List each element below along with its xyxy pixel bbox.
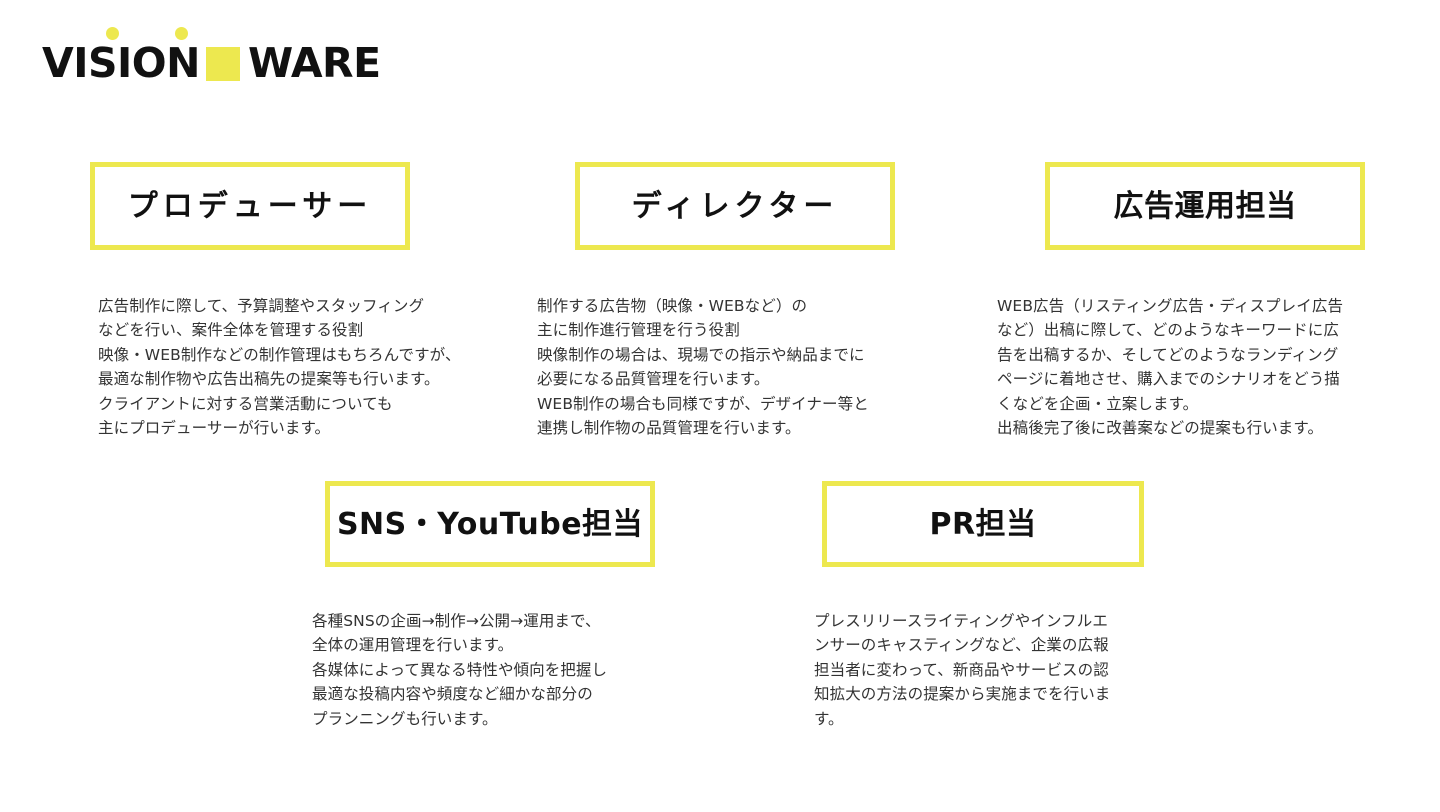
- role-title-box-sns: SNS・YouTube担当: [325, 481, 655, 567]
- logo-dot-over-i-icon: [106, 27, 119, 40]
- role-description-ad-operations: WEB広告（リスティング広告・ディスプレイ広告 など）出稿に際して、どのようなキ…: [997, 294, 1427, 441]
- brand-word-vision: VISION: [42, 43, 200, 84]
- role-title-pr: PR担当: [929, 508, 1036, 541]
- brand-wordmark: VISION WARE: [42, 43, 381, 84]
- role-title-box-pr: PR担当: [822, 481, 1144, 567]
- logo-dot-over-o-icon: [175, 27, 188, 40]
- role-title-ad-operations: 広告運用担当: [1114, 190, 1297, 223]
- brand-logo: VISION WARE: [42, 22, 381, 84]
- role-title-box-director: ディレクター: [575, 162, 895, 250]
- role-card-ad-operations: 広告運用担当 WEB広告（リスティング広告・ディスプレイ広告 など）出稿に際して…: [1045, 162, 1365, 250]
- role-description-pr: プレスリリースライティングやインフルエ ンサーのキャスティングなど、企業の広報 …: [814, 609, 1174, 731]
- role-title-box-ad-operations: 広告運用担当: [1045, 162, 1365, 250]
- role-card-sns: SNS・YouTube担当 各種SNSの企画→制作→公開→運用まで、 全体の運用…: [325, 481, 655, 567]
- role-description-producer: 広告制作に際して、予算調整やスタッフィング などを行い、案件全体を管理する役割 …: [98, 294, 538, 441]
- role-card-director: ディレクター 制作する広告物（映像・WEBなど）の 主に制作進行管理を行う役割 …: [575, 162, 895, 250]
- role-card-producer: プロデューサー 広告制作に際して、予算調整やスタッフィング などを行い、案件全体…: [90, 162, 410, 250]
- role-description-sns: 各種SNSの企画→制作→公開→運用まで、 全体の運用管理を行います。 各媒体によ…: [312, 609, 692, 731]
- role-title-sns: SNS・YouTube担当: [337, 508, 643, 541]
- yellow-square-mark-icon: [206, 47, 240, 81]
- brand-word-ware: WARE: [248, 43, 381, 84]
- role-title-box-producer: プロデューサー: [90, 162, 410, 250]
- role-title-director: ディレクター: [632, 190, 839, 223]
- role-card-pr: PR担当 プレスリリースライティングやインフルエ ンサーのキャスティングなど、企…: [822, 481, 1144, 567]
- role-title-producer: プロデューサー: [128, 190, 372, 223]
- role-description-director: 制作する広告物（映像・WEBなど）の 主に制作進行管理を行う役割 映像制作の場合…: [537, 294, 957, 441]
